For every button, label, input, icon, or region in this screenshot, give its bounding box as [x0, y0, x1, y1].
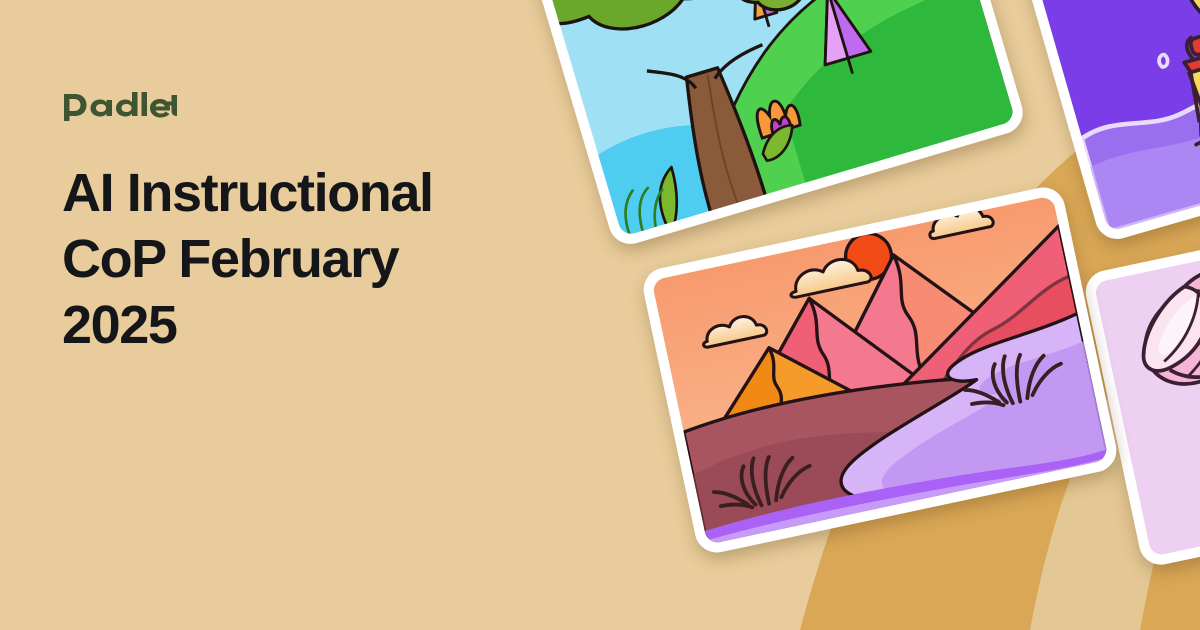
title-line-1: AI Instructional — [62, 163, 433, 223]
title-block: AI Instructional CoP February 2025 — [62, 92, 532, 358]
title-line-2: CoP February — [62, 229, 398, 289]
title-line-3: 2025 — [62, 295, 177, 355]
poster-canvas: AI Instructional CoP February 2025 — [0, 0, 1200, 630]
padlet-logo[interactable] — [62, 92, 532, 126]
padlet-wordmark-icon — [62, 92, 177, 122]
page-title: AI Instructional CoP February 2025 — [62, 160, 532, 358]
